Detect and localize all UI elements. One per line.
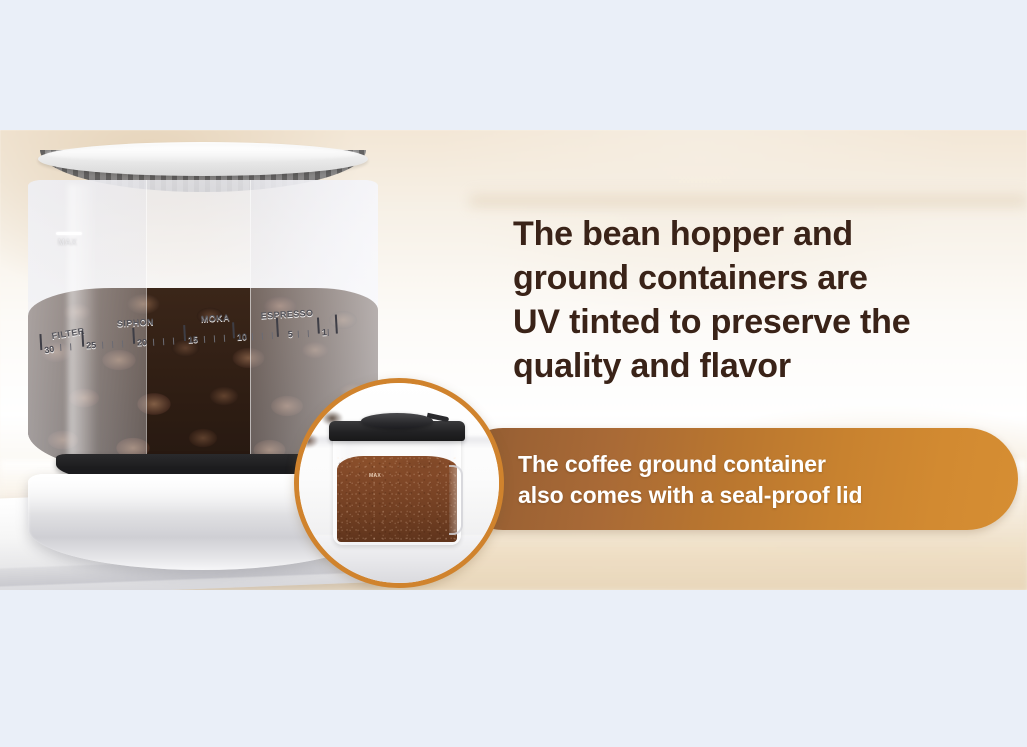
dial-number-10: 10 — [237, 332, 248, 343]
headline-line-3: UV tinted to preserve the — [513, 301, 1013, 345]
dial-tick-major — [39, 334, 41, 350]
dial-tick-minor — [214, 335, 215, 342]
headline-line-4: quality and flavor — [513, 345, 1013, 389]
ground-container-handle — [449, 465, 463, 535]
ground-container-body: MAX — [333, 433, 461, 545]
callout-line-2: also comes with a seal-proof lid — [518, 480, 998, 511]
kitchen-shelf — [470, 190, 1027, 206]
headline-line-1: The bean hopper and — [513, 213, 1013, 257]
dial-number-1: 1 — [322, 327, 328, 337]
seal-proof-seal-disc — [361, 413, 433, 429]
dial-tick-minor — [308, 330, 309, 337]
inset-photo-background: MAX — [299, 383, 499, 583]
dial-tick-major — [183, 325, 185, 341]
dial-tick-minor — [70, 343, 71, 350]
product-photo-band: MAX FILTER SIPHON MOKA ESPRESSO 30 25 20… — [0, 130, 1027, 590]
dial-tick-major — [335, 315, 338, 334]
dial-number-25: 25 — [86, 340, 97, 351]
dial-tick-major — [317, 318, 319, 334]
feature-callout-banner: The coffee ground container also comes w… — [452, 428, 1018, 530]
ground-coffee-fill — [337, 456, 457, 542]
dial-tick-minor — [163, 338, 164, 345]
dial-tick-major — [232, 322, 234, 338]
dial-number-5: 5 — [288, 329, 294, 339]
dial-label-espresso: ESPRESSO — [260, 308, 313, 321]
dial-tick-minor — [298, 331, 299, 338]
marketing-banner: MAX FILTER SIPHON MOKA ESPRESSO 30 25 20… — [0, 0, 1027, 747]
dial-label-siphon: SIPHON — [117, 317, 154, 329]
dial-tick-minor — [224, 335, 225, 342]
headline-line-2: ground containers are — [513, 257, 1013, 301]
dial-tick-major — [132, 328, 134, 344]
callout-line-1: The coffee ground container — [518, 449, 998, 480]
ground-container-max-label: MAX — [369, 473, 381, 479]
dial-tick-minor — [204, 336, 205, 343]
feature-callout-text: The coffee ground container also comes w… — [518, 449, 998, 510]
dial-tick-minor — [102, 342, 103, 349]
dial-tick-minor — [262, 333, 263, 340]
dial-label-moka: MOKA — [201, 312, 231, 324]
dial-tick-minor — [173, 338, 174, 345]
hopper-lid-shine — [46, 146, 358, 162]
hopper-max-tick — [56, 232, 82, 235]
dial-tick-minor — [60, 344, 61, 351]
dial-number-30: 30 — [44, 344, 55, 355]
dial-tick-minor — [272, 332, 273, 339]
dial-tick-minor — [112, 341, 113, 348]
hopper-max-label: MAX — [58, 238, 77, 247]
dial-label-filter: FILTER — [51, 326, 85, 341]
ground-coffee-texture — [337, 456, 457, 542]
dial-number-15: 15 — [188, 334, 199, 345]
dial-tick-major — [276, 318, 279, 337]
dial-tick-minor — [328, 329, 329, 336]
dial-number-20: 20 — [137, 337, 148, 348]
dial-tick-minor — [252, 333, 253, 340]
ground-container-inset: MAX — [294, 378, 504, 588]
headline: The bean hopper and ground containers ar… — [513, 213, 1013, 388]
dial-tick-minor — [153, 339, 154, 346]
dial-tick-minor — [122, 340, 123, 347]
